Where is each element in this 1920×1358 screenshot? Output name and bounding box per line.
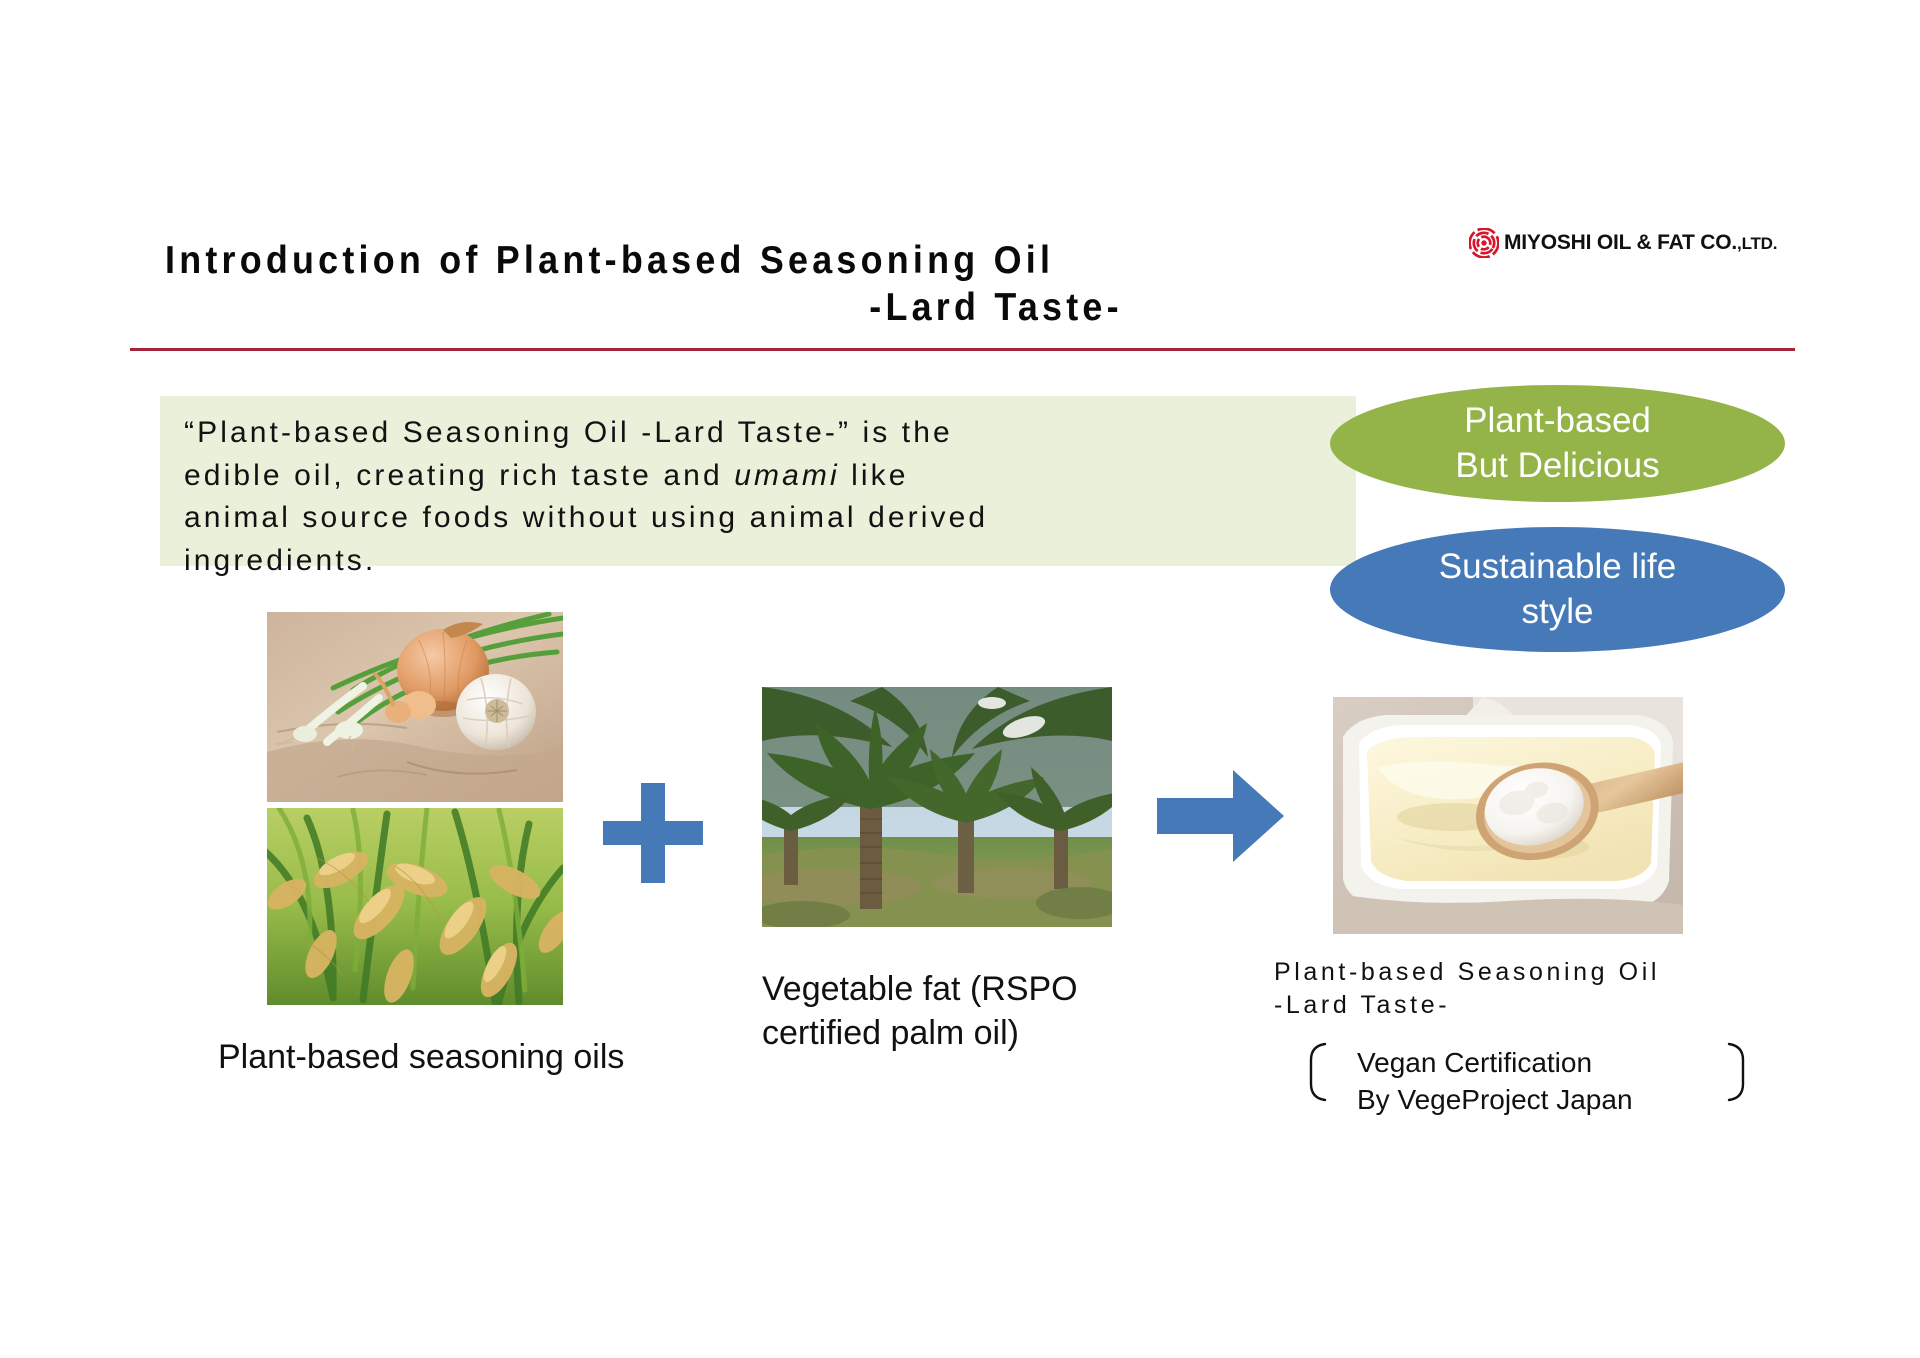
caption-vegetable-fat-line1: Vegetable fat (RSPO	[762, 968, 1162, 1012]
description-line-1: “Plant-based Seasoning Oil -Lard Taste-”…	[184, 412, 1344, 455]
description-text: “Plant-based Seasoning Oil -Lard Taste-”…	[184, 412, 1344, 582]
badge-plant-based-but-delicious: Plant-based But Delicious	[1330, 385, 1785, 502]
badge-blue-text: Sustainable life style	[1439, 545, 1676, 635]
product-tub-photo	[1333, 697, 1683, 934]
caption-product-line2: -Lard Taste-	[1274, 989, 1814, 1022]
plus-icon	[603, 783, 703, 883]
arrow-right-icon	[1157, 770, 1284, 862]
page-title-line1: Introduction of Plant-based Seasoning Oi…	[165, 238, 1361, 284]
description-line-2-post: like	[840, 459, 909, 492]
company-logo-text-main: MIYOSHI OIL & FAT CO.	[1504, 231, 1737, 254]
caption-vegetable-fat: Vegetable fat (RSPO certified palm oil)	[762, 968, 1162, 1055]
caption-vegetable-fat-line2: certified palm oil)	[762, 1012, 1162, 1056]
slide-canvas: Introduction of Plant-based Seasoning Oi…	[0, 0, 1920, 1358]
bracket-left-icon	[1305, 1042, 1327, 1122]
page-title: Introduction of Plant-based Seasoning Oi…	[165, 238, 1465, 333]
description-line-2: edible oil, creating rich taste and umam…	[184, 455, 1344, 498]
company-logo: MIYOSHI OIL & FAT CO.,LTD.	[1469, 228, 1777, 258]
caption-plant-based-seasoning-oils: Plant-based seasoning oils	[218, 1038, 624, 1077]
description-line-2-pre: edible oil, creating rich taste and	[184, 459, 734, 492]
description-umami-emphasis: umami	[734, 459, 840, 492]
badge-green-line2: But Delicious	[1455, 444, 1659, 489]
company-logo-text: MIYOSHI OIL & FAT CO.,LTD.	[1504, 231, 1777, 255]
vegan-certification-block: Vegan Certification By VegeProject Japan	[1305, 1042, 1749, 1122]
rice-field-photo	[267, 808, 563, 1005]
caption-product-name: Plant-based Seasoning Oil -Lard Taste-	[1274, 956, 1814, 1022]
header-divider	[130, 348, 1795, 351]
description-line-4: ingredients.	[184, 540, 1344, 583]
page-title-line2: -Lard Taste-	[269, 284, 1465, 333]
vegan-certification-text: Vegan Certification By VegeProject Japan	[1357, 1044, 1717, 1118]
badge-green-text: Plant-based But Delicious	[1455, 399, 1659, 489]
caption-product-line1: Plant-based Seasoning Oil	[1274, 956, 1814, 989]
bracket-right-icon	[1727, 1042, 1749, 1122]
onion-garlic-scallion-photo	[267, 612, 563, 802]
badge-green-line1: Plant-based	[1455, 399, 1659, 444]
vegan-certification-line2: By VegeProject Japan	[1357, 1081, 1717, 1118]
badge-blue-line1: Sustainable life	[1439, 545, 1676, 590]
miyoshi-logo-mark-icon	[1469, 228, 1499, 258]
description-line-3: animal source foods without using animal…	[184, 497, 1344, 540]
badge-sustainable-life-style: Sustainable life style	[1330, 527, 1785, 652]
vegan-certification-line1: Vegan Certification	[1357, 1044, 1717, 1081]
description-box: “Plant-based Seasoning Oil -Lard Taste-”…	[160, 396, 1356, 566]
company-logo-text-suffix: ,LTD.	[1737, 234, 1777, 253]
badge-blue-line2: style	[1439, 590, 1676, 635]
palm-plantation-photo	[762, 687, 1112, 927]
